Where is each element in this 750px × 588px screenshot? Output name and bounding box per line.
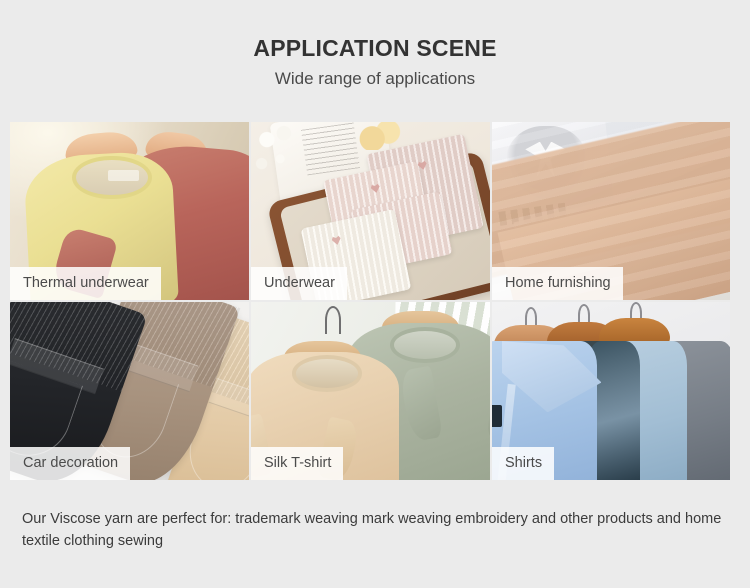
application-gallery-grid: Thermal underwear — [10, 122, 730, 480]
page-title: APPLICATION SCENE — [0, 36, 750, 61]
gallery-tile-label: Thermal underwear — [10, 267, 161, 301]
gallery-tile-label: Car decoration — [10, 447, 130, 481]
gallery-tile-silk-tshirt[interactable]: Silk T-shirt — [251, 302, 490, 480]
gallery-tile-label: Home furnishing — [492, 267, 623, 301]
gallery-tile-label: Shirts — [492, 447, 554, 481]
gallery-tile-shirts[interactable]: Shirts — [492, 302, 730, 480]
product-caption: Our Viscose yarn are perfect for: tradem… — [22, 508, 728, 552]
gallery-tile-label: Silk T-shirt — [251, 447, 343, 481]
gallery-tile-thermal-underwear[interactable]: Thermal underwear — [10, 122, 249, 300]
gallery-tile-home-furnishing[interactable]: Home furnishing — [492, 122, 730, 300]
page-subtitle: Wide range of applications — [0, 70, 750, 89]
page-header: APPLICATION SCENE Wide range of applicat… — [0, 0, 750, 89]
gallery-tile-underwear[interactable]: Underwear — [251, 122, 490, 300]
application-scene-page: APPLICATION SCENE Wide range of applicat… — [0, 0, 750, 588]
gallery-tile-label: Underwear — [251, 267, 347, 301]
gallery-tile-car-decoration[interactable]: Car decoration — [10, 302, 249, 480]
